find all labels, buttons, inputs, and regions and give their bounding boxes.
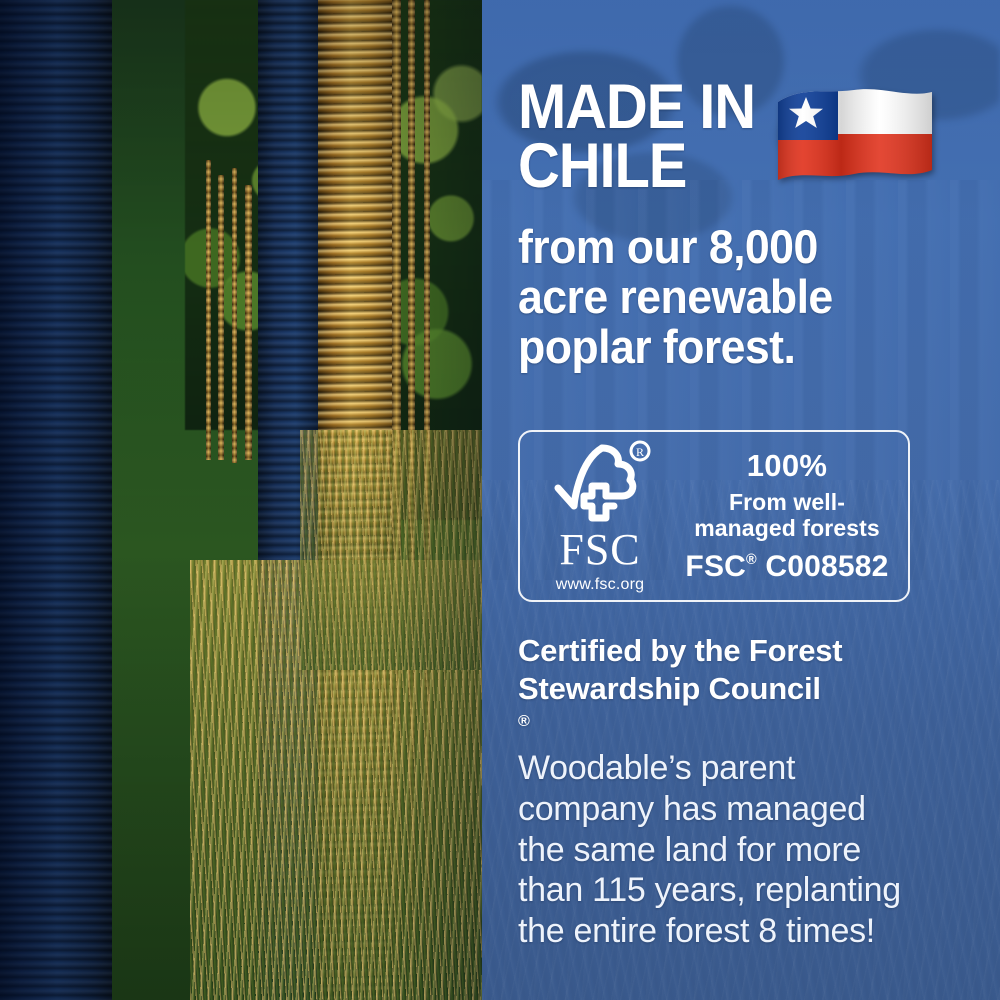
subheadline: from our 8,000 acre renewable poplar for… (518, 222, 959, 371)
certified-by-text: Certified by the Forest Stewardship Coun… (518, 632, 986, 747)
body-line-5: the entire forest 8 times! (518, 911, 990, 952)
body-line-1: Woodable’s parent (518, 748, 990, 789)
certified-line-1: Certified by the Forest (518, 632, 986, 670)
body-line-4: than 115 years, replanting (518, 870, 990, 911)
fsc-claim: From well- managed forests (672, 490, 902, 542)
fsc-license-code: FSC® C008582 (672, 550, 902, 583)
svg-text:R: R (636, 445, 644, 459)
headline-block: MADE IN CHILE (518, 78, 982, 195)
body-line-3: the same land for more (518, 830, 990, 871)
fsc-tree-checkmark-icon: R (548, 438, 652, 530)
info-panel: MADE IN CHILE (482, 0, 1000, 1000)
fsc-wordmark: FSC (559, 528, 640, 572)
subheadline-line-2: acre renewable (518, 272, 959, 322)
certified-line-2: Stewardship Council® (518, 670, 986, 747)
panel-content: MADE IN CHILE (482, 0, 1000, 1000)
fsc-code-registered-mark: ® (746, 552, 757, 568)
fsc-code-prefix: FSC (685, 550, 746, 583)
certified-line-2-text: Stewardship Council (518, 670, 986, 708)
subheadline-line-3: poplar forest. (518, 322, 959, 372)
photo-vignette (0, 0, 482, 1000)
body-line-2: company has managed (518, 789, 990, 830)
product-feature-image: MADE IN CHILE (0, 0, 1000, 1000)
fsc-claim-line-1: From well- (672, 490, 902, 516)
fsc-details: 100% From well- managed forests FSC® C00… (672, 449, 908, 583)
fsc-url: www.fsc.org (556, 576, 644, 594)
chile-flag-icon (774, 84, 934, 192)
fsc-claim-line-2: managed forests (672, 516, 902, 542)
body-copy: Woodable’s parent company has managed th… (518, 748, 990, 952)
fsc-certification-box: R FSC www.fsc.org 100% From well- manage… (518, 430, 910, 602)
poplar-forest-trunks-photo (0, 0, 482, 1000)
fsc-logo: R FSC www.fsc.org (520, 438, 672, 594)
certified-registered-mark: ® (518, 712, 530, 730)
fsc-code-number: C008582 (765, 550, 888, 583)
subheadline-line-1: from our 8,000 (518, 222, 959, 272)
fsc-percent: 100% (672, 449, 902, 483)
